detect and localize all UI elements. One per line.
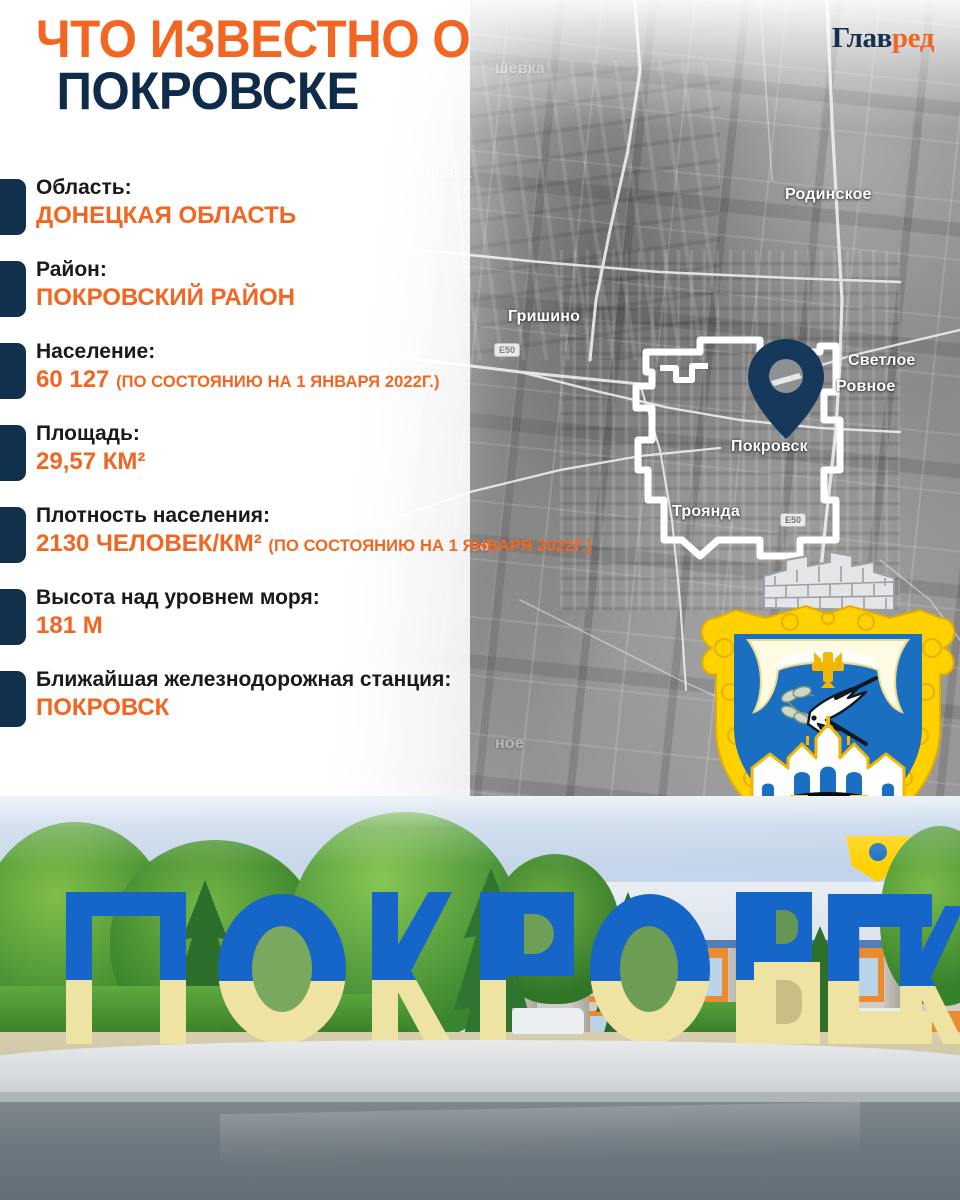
fact-marker-icon <box>0 261 26 317</box>
fact-label: Высота над уровнем моря: <box>36 586 760 611</box>
fact-row: Область:ДОНЕЦКАЯ ОБЛАСТЬ <box>0 176 760 232</box>
fact-marker-icon <box>0 179 26 235</box>
fact-value-main: ПОКРОВСКИЙ РАЙОН <box>36 284 295 311</box>
fact-label: Область: <box>36 176 760 201</box>
fact-marker-icon <box>0 425 26 481</box>
fact-list: Область:ДОНЕЦКАЯ ОБЛАСТЬРайон:ПОКРОВСКИЙ… <box>0 176 760 750</box>
fact-value: ПОКРОВСК <box>36 694 760 723</box>
fact-row: Площадь:29,57 КМ² <box>0 422 760 478</box>
fact-value-note: (ПО СОСТОЯНИЮ НА 1 ЯНВАРЯ 2022Г.) <box>116 373 440 391</box>
fact-value: ДОНЕЦКАЯ ОБЛАСТЬ <box>36 202 760 231</box>
fact-value: 29,57 КМ² <box>36 448 760 477</box>
fact-label: Население: <box>36 340 760 365</box>
letter-v-hole-2 <box>776 980 802 1024</box>
fact-row: Плотность населения:2130 ЧЕЛОВЕК/КМ² (ПО… <box>0 504 760 560</box>
fact-value: ПОКРОВСКИЙ РАЙОН <box>36 284 760 313</box>
fact-value-main: 29,57 КМ² <box>36 448 145 475</box>
infographic-canvas: ВасилевкашевкаРодинскоеГришиноСветлоеРов… <box>0 0 960 1200</box>
photo-top-blend <box>0 796 960 866</box>
page-title: ЧТО ИЗВЕСТНО О ПОКРОВСКЕ <box>36 14 656 119</box>
fact-value-main: ПОКРОВСК <box>36 694 169 721</box>
city-sign-letters <box>0 884 960 1054</box>
letter-v-hole <box>776 910 798 944</box>
fact-row: Население:60 127 (ПО СОСТОЯНИЮ НА 1 ЯНВА… <box>0 340 760 396</box>
fact-label: Площадь: <box>36 422 760 447</box>
fact-row: Район:ПОКРОВСКИЙ РАЙОН <box>0 258 760 314</box>
fact-value-main: 2130 ЧЕЛОВЕК/КМ² <box>36 530 262 557</box>
fact-value-main: 60 127 <box>36 366 109 393</box>
brand-logo[interactable]: Главред <box>832 24 934 53</box>
fact-row: Ближайшая железнодорожная станция:ПОКРОВ… <box>0 668 760 724</box>
fact-value-note: (ПО СОСТОЯНИЮ НА 1 ЯНВАРЯ 2022Г.) <box>268 537 592 555</box>
fact-value: 181 М <box>36 612 760 641</box>
mural-crown-icon <box>764 552 894 610</box>
fact-label: Плотность населения: <box>36 504 760 529</box>
letter-o-hole-2 <box>620 926 678 1012</box>
letter-o-hole <box>252 926 312 1012</box>
fact-value: 2130 ЧЕЛОВЕК/КМ² (ПО СОСТОЯНИЮ НА 1 ЯНВА… <box>36 530 760 559</box>
title-line-1: ЧТО ИЗВЕСТНО О <box>36 14 613 65</box>
brand-logo-part-2: ред <box>892 22 934 54</box>
fact-label: Район: <box>36 258 760 283</box>
fact-value: 60 127 (ПО СОСТОЯНИЮ НА 1 ЯНВАРЯ 2022Г.) <box>36 366 760 395</box>
fact-label: Ближайшая железнодорожная станция: <box>36 668 760 693</box>
fact-row: Высота над уровнем моря:181 М <box>0 586 760 642</box>
fact-marker-icon <box>0 589 26 645</box>
city-sign-photo <box>0 796 960 1200</box>
fact-value-main: ДОНЕЦКАЯ ОБЛАСТЬ <box>36 202 296 229</box>
fact-marker-icon <box>0 343 26 399</box>
title-line-2: ПОКРОВСКЕ <box>36 65 613 119</box>
brand-logo-part-1: Глав <box>832 22 892 54</box>
fact-value-main: 181 М <box>36 612 103 639</box>
fact-marker-icon <box>0 507 26 563</box>
fact-marker-icon <box>0 671 26 727</box>
